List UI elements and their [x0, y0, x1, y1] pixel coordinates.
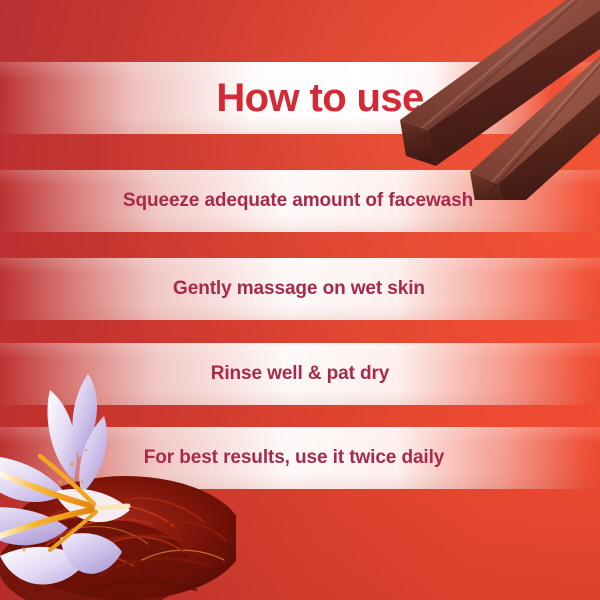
step-band-4: For best results, use it twice daily — [0, 427, 600, 489]
step-band-3: Rinse well & pat dry — [0, 343, 600, 405]
step-text-2: Gently massage on wet skin — [173, 278, 425, 300]
step-text-1: Squeeze adequate amount of facewash — [123, 190, 473, 212]
saffron-thread-pile — [0, 476, 236, 600]
how-to-use-poster: How to use Squeeze adequate amount of fa… — [0, 0, 600, 600]
step-band-2: Gently massage on wet skin — [0, 258, 600, 320]
page-title: How to use — [216, 76, 423, 121]
step-band-1: Squeeze adequate amount of facewash — [0, 170, 600, 232]
step-text-3: Rinse well & pat dry — [211, 363, 390, 385]
title-band: How to use — [0, 62, 600, 134]
step-text-4: For best results, use it twice daily — [144, 447, 445, 469]
